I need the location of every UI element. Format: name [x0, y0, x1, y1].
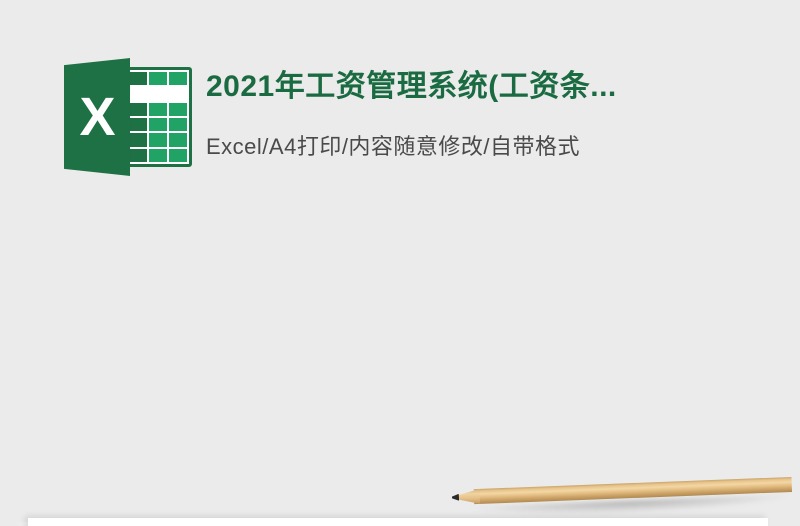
document-preview-area: 工资管理系统 DOCER EXCEL @COPYRIGHT YINGSHANJU [0, 228, 800, 526]
excel-icon-letter: X [64, 58, 130, 176]
document-header: X 2021年工资管理系统(工资条... Excel/A4打印/内容随意修改/自… [0, 0, 800, 228]
document-sheet: 工资管理系统 DOCER EXCEL @COPYRIGHT YINGSHANJU [28, 518, 768, 526]
header-text-block: 2021年工资管理系统(工资条... Excel/A4打印/内容随意修改/自带格… [206, 66, 786, 162]
pencil-lead [452, 494, 459, 501]
pencil-tip-cone [456, 489, 481, 505]
preview-card: X 2021年工资管理系统(工资条... Excel/A4打印/内容随意修改/自… [0, 0, 800, 526]
page-subtitle: Excel/A4打印/内容随意修改/自带格式 [206, 132, 786, 162]
excel-file-icon: X [64, 58, 192, 176]
page-title: 2021年工资管理系统(工资条... [206, 66, 786, 108]
